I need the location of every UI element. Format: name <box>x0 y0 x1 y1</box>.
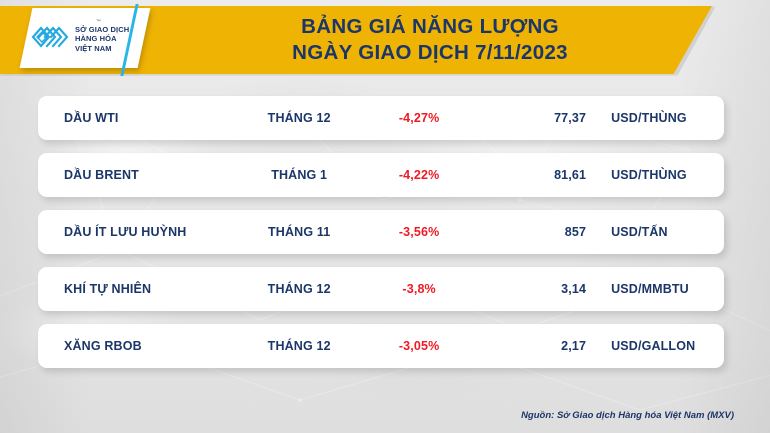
commodity-name: DẦU BRENT <box>38 168 243 182</box>
price-value: 857 <box>483 225 594 239</box>
price-value: 2,17 <box>483 339 594 353</box>
commodity-name: XĂNG RBOB <box>38 339 243 353</box>
table-row[interactable]: DẦU WTI THÁNG 12 -4,27% 77,37 USD/THÙNG <box>38 96 724 140</box>
title-line-2: NGÀY GIAO DỊCH 7/11/2023 <box>292 40 568 66</box>
table-row[interactable]: DẦU ÍT LƯU HUỲNH THÁNG 11 -3,56% 857 USD… <box>38 210 724 254</box>
energy-price-board: BẢNG GIÁ NĂNG LƯỢNG NGÀY GIAO DỊCH 7/11/… <box>0 0 770 433</box>
contract-month: THÁNG 1 <box>243 168 356 182</box>
price-value: 77,37 <box>483 111 594 125</box>
price-unit: USD/THÙNG <box>594 168 724 182</box>
title-line-1: BẢNG GIÁ NĂNG LƯỢNG <box>301 14 559 40</box>
contract-month: THÁNG 12 <box>243 339 356 353</box>
contract-month: THÁNG 11 <box>243 225 356 239</box>
change-percent: -3,8% <box>356 282 483 296</box>
table-row[interactable]: KHÍ TỰ NHIÊN THÁNG 12 -3,8% 3,14 USD/MMB… <box>38 267 724 311</box>
brand-line-1: SỞ GIAO DỊCH <box>75 25 129 34</box>
commodity-name: DẦU WTI <box>38 111 243 125</box>
price-value: 3,14 <box>483 282 594 296</box>
commodity-name: DẦU ÍT LƯU HUỲNH <box>38 225 243 239</box>
source-attribution: Nguồn: Sở Giao dịch Hàng hóa Việt Nam (M… <box>521 410 734 421</box>
brand-line-3: VIỆT NAM <box>75 44 112 53</box>
change-percent: -3,05% <box>356 339 483 353</box>
brand-logo[interactable]: ™ SỞ GIAO DỊCH HÀNG HÓA VIỆT NAM <box>30 12 148 66</box>
mxv-chevron-logo-icon <box>30 23 70 56</box>
change-percent: -4,22% <box>356 168 483 182</box>
contract-month: THÁNG 12 <box>243 111 356 125</box>
table-row[interactable]: DẦU BRENT THÁNG 1 -4,22% 81,61 USD/THÙNG <box>38 153 724 197</box>
price-value: 81,61 <box>483 168 594 182</box>
page-title: BẢNG GIÁ NĂNG LƯỢNG NGÀY GIAO DỊCH 7/11/… <box>170 8 690 72</box>
trademark-symbol: ™ <box>96 19 101 25</box>
price-unit: USD/MMBTU <box>594 282 724 296</box>
price-unit: USD/TẤN <box>594 225 724 239</box>
contract-month: THÁNG 12 <box>243 282 356 296</box>
change-percent: -4,27% <box>356 111 483 125</box>
price-table: DẦU WTI THÁNG 12 -4,27% 77,37 USD/THÙNG … <box>0 96 770 381</box>
header: BẢNG GIÁ NĂNG LƯỢNG NGÀY GIAO DỊCH 7/11/… <box>0 0 770 82</box>
commodity-name: KHÍ TỰ NHIÊN <box>38 282 243 296</box>
price-unit: USD/THÙNG <box>594 111 724 125</box>
price-unit: USD/GALLON <box>594 339 724 353</box>
table-row[interactable]: XĂNG RBOB THÁNG 12 -3,05% 2,17 USD/GALLO… <box>38 324 724 368</box>
change-percent: -3,56% <box>356 225 483 239</box>
brand-line-2: HÀNG HÓA <box>75 34 117 43</box>
brand-name: SỞ GIAO DỊCH HÀNG HÓA VIỆT NAM <box>75 25 129 54</box>
